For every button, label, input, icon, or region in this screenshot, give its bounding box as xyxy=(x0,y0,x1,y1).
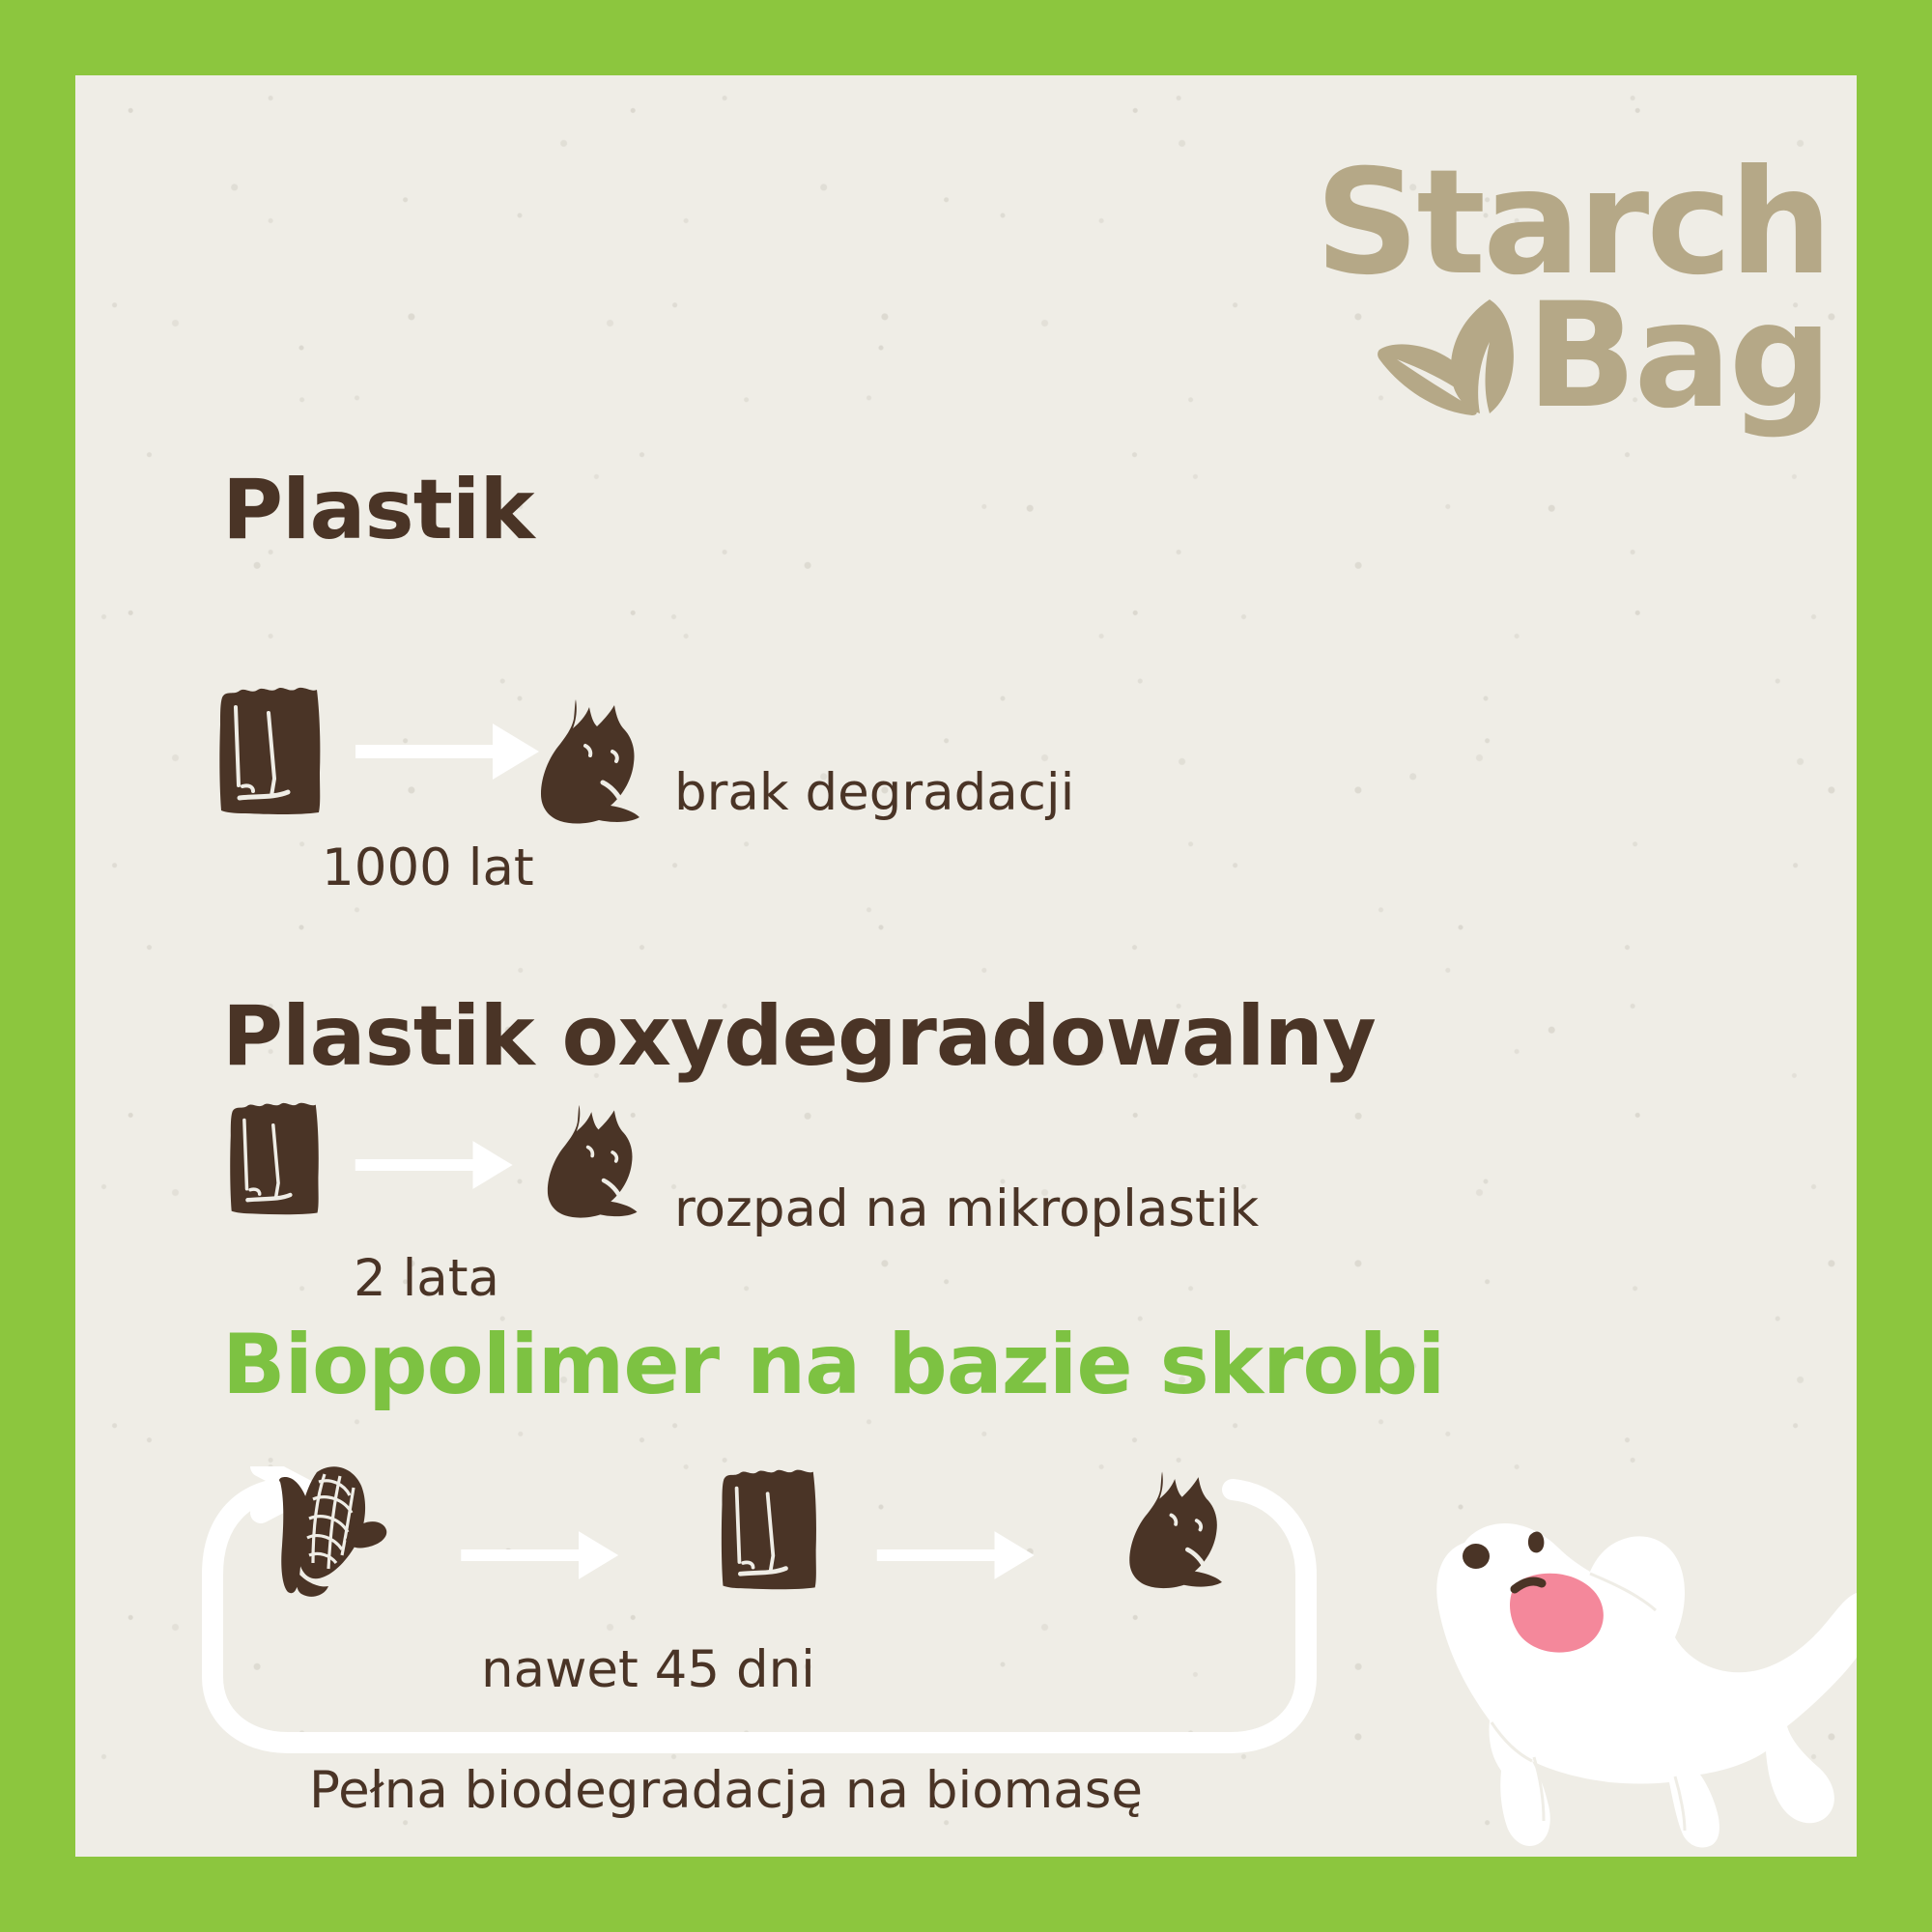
logo-line-starch: Starch xyxy=(1192,156,1830,290)
duration-label-biopolymer: nawet 45 dni xyxy=(481,1640,815,1699)
section-heading-biopolymer: Biopolimer na bazie skrobi xyxy=(222,1317,1445,1413)
duration-label-oxydegradable: 2 lata xyxy=(354,1249,499,1308)
crumpled-bag-icon xyxy=(529,694,655,829)
crumpled-bag-icon xyxy=(1119,1464,1236,1595)
plastic-bag-icon xyxy=(222,1097,328,1221)
arrow-right-icon xyxy=(846,1526,1073,1584)
plastic-bag-icon xyxy=(211,684,331,819)
plastic-bag-icon xyxy=(713,1466,827,1594)
corn-cob-icon xyxy=(261,1455,391,1600)
section-heading-plastic: Plastik xyxy=(222,462,534,558)
section-heading-oxydegradable: Plastik oxydegradowalny xyxy=(222,988,1376,1085)
result-label-oxydegradable: rozpad na mikroplastik xyxy=(674,1179,1259,1238)
arrow-right-icon xyxy=(442,1526,645,1584)
brand-logo: Starch Bag xyxy=(1192,156,1830,423)
infographic-poster: Starch Bag Plastik xyxy=(0,0,1932,1932)
result-label-plastic: brak degradacji xyxy=(674,763,1074,822)
duration-label-plastic: 1000 lat xyxy=(322,838,534,897)
result-label-biopolymer: Pełna biodegradacja na biomasę xyxy=(309,1761,1143,1820)
logo-line-bag: Bag xyxy=(1526,290,1830,423)
crumpled-bag-icon xyxy=(537,1099,651,1223)
two-leaves-icon xyxy=(1376,292,1520,419)
arrow-right-icon xyxy=(355,718,549,785)
arrow-right-icon xyxy=(334,1136,542,1194)
paper-panel: Starch Bag Plastik xyxy=(75,75,1857,1857)
white-dog-illustration xyxy=(1406,1481,1857,1857)
